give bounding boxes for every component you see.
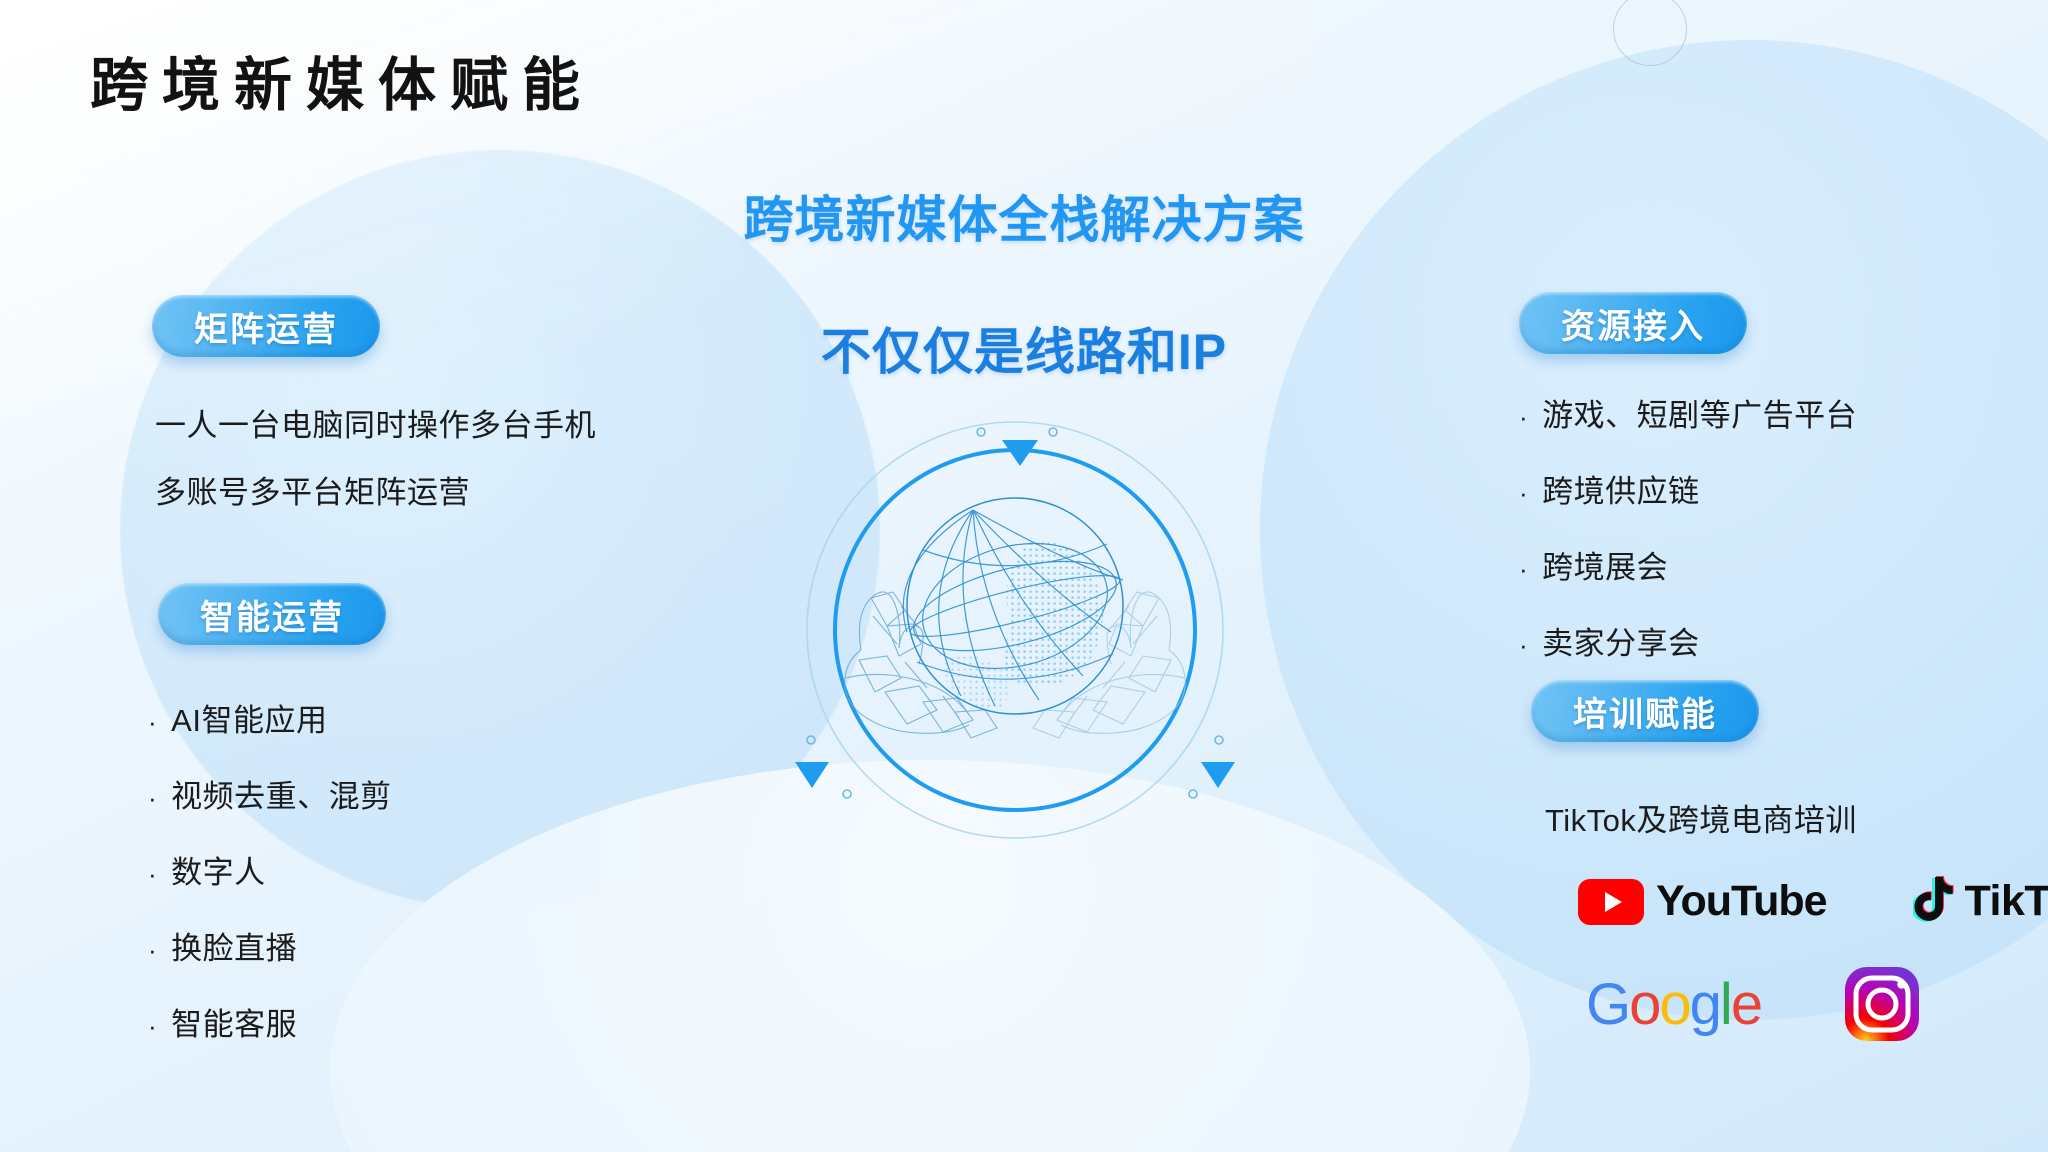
list-item: · 跨境供应链 [1519, 466, 1857, 511]
right-bullet-list: · 游戏、短剧等广告平台 · 跨境供应链 · 跨境展会 · 卖家分享会 [1519, 390, 1857, 663]
list-item: · 游戏、短剧等广告平台 [1519, 390, 1857, 435]
tiktok-logo[interactable]: TikTok [1913, 875, 2048, 928]
globe-in-hands-icon [795, 410, 1235, 850]
slide-root: 跨境新媒体赋能 跨境新媒体全栈解决方案 不仅仅是线路和IP [0, 0, 2048, 1152]
list-item: · 卖家分享会 [1519, 618, 1857, 663]
list-item-label: AI智能应用 [171, 695, 327, 740]
logo-row-bottom: Google [1586, 965, 1921, 1043]
badge-smart-operations[interactable]: 智能运营 [158, 583, 386, 645]
list-item: · 视频去重、混剪 [148, 771, 392, 816]
list-item-label: 换脸直播 [171, 923, 297, 968]
list-item: · 智能客服 [148, 999, 392, 1044]
right-text-line-1: TikTok及跨境电商培训 [1545, 795, 1857, 840]
list-item-label: 跨境供应链 [1542, 466, 1700, 511]
list-item: · 换脸直播 [148, 923, 392, 968]
left-text-line-1: 一人一台电脑同时操作多台手机 [155, 400, 596, 445]
list-item: · AI智能应用 [148, 695, 392, 740]
list-item-label: 数字人 [171, 847, 266, 892]
list-item: · 跨境展会 [1519, 542, 1857, 587]
left-bullet-list: · AI智能应用 · 视频去重、混剪 · 数字人 · 换脸直播 · 智能客服 [148, 695, 392, 1044]
list-item: · 数字人 [148, 847, 392, 892]
left-text-line-2: 多账号多平台矩阵运营 [155, 467, 470, 512]
google-logo[interactable]: Google [1586, 971, 1761, 1038]
page-title: 跨境新媒体赋能 [90, 38, 594, 122]
bullet-dot-icon: · [1519, 556, 1528, 582]
youtube-play-icon [1578, 879, 1644, 925]
bullet-dot-icon: · [148, 937, 157, 963]
youtube-label: YouTube [1656, 877, 1827, 926]
list-item-label: 卖家分享会 [1542, 618, 1700, 663]
list-item-label: 游戏、短剧等广告平台 [1542, 390, 1857, 435]
bullet-dot-icon: · [1519, 480, 1528, 506]
bullet-dot-icon: · [148, 785, 157, 811]
badge-resource-access[interactable]: 资源接入 [1519, 292, 1747, 354]
center-heading-primary: 跨境新媒体全栈解决方案 [0, 180, 2048, 252]
youtube-logo[interactable]: YouTube [1578, 877, 1827, 926]
list-item-label: 智能客服 [171, 999, 297, 1044]
bullet-dot-icon: · [148, 709, 157, 735]
bullet-dot-icon: · [148, 1013, 157, 1039]
logo-row-top: YouTube TikTok [1578, 875, 2048, 928]
list-item-label: 视频去重、混剪 [171, 771, 392, 816]
list-item-label: 跨境展会 [1542, 542, 1668, 587]
bullet-dot-icon: · [1519, 404, 1528, 430]
instagram-logo[interactable] [1843, 965, 1921, 1043]
tiktok-label: TikTok [1965, 877, 2048, 926]
tiktok-note-icon [1913, 875, 1955, 928]
badge-matrix-operations[interactable]: 矩阵运营 [152, 295, 380, 357]
bullet-dot-icon: · [1519, 632, 1528, 658]
badge-training-empowerment[interactable]: 培训赋能 [1531, 680, 1759, 742]
bullet-dot-icon: · [148, 861, 157, 887]
